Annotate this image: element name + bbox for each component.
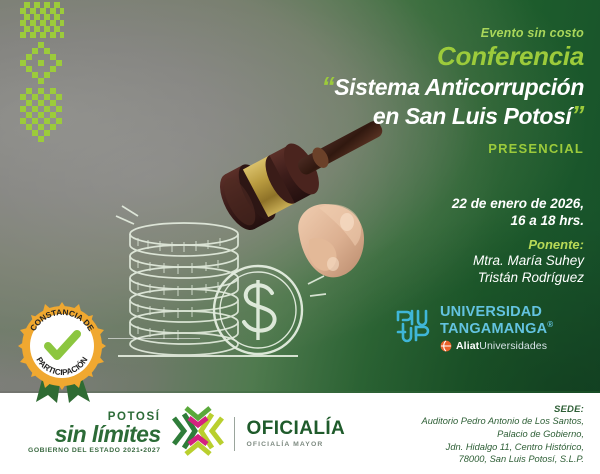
government-logo: POTOSÍ sin límites GOBIERNO DEL ESTADO 2… [28,404,345,463]
sede-line-1: Auditorio Pedro Antonio de Los Santos, [334,415,584,428]
oficialia-mayor-subtitle: OFICIALÍA MAYOR [247,441,346,448]
university-logo: UNIVERSIDAD TANGAMANGA® AliatUniversidad… [392,305,582,352]
potosi-sin-limites-wordmark: POTOSÍ sin límites GOBIERNO DEL ESTADO 2… [28,412,161,454]
event-kicker: Evento sin costo [254,26,584,40]
date-speaker-block: 22 de enero de 2026, 16 a 18 hrs. Ponent… [254,196,584,287]
event-date-line-1: 22 de enero de 2026, [254,196,584,213]
gobierno-del-estado-label: GOBIERNO DEL ESTADO 2021•2027 [28,448,161,455]
university-name-text-2: TANGAMANGA [440,320,547,336]
quote-close: ” [571,100,584,130]
embroidery-pattern-decoration [18,0,64,152]
sede-line-3: Jdn. Hidalgo 11, Centro Histórico, [334,441,584,454]
title-text-2: en San Luis Potosí [373,103,572,129]
aliat-network: AliatUniversidades [440,340,553,352]
conference-poster: Evento sin costo Conferencia “Sistema An… [0,0,600,474]
conference-word: Conferencia [254,43,584,70]
speaker-label: Ponente: [254,237,584,252]
venue-block: SEDE: Auditorio Pedro Antonio de Los San… [334,404,584,466]
aliat-suffix: Universidades [479,340,547,352]
speaker-name-line-2: Tristán Rodríguez [254,269,584,287]
oficialia-wordmark: OFICIALÍA OFICIALÍA MAYOR [247,419,346,448]
conference-title-line-1: “Sistema Anticorrupción [254,72,584,101]
logo-divider [234,417,235,451]
modality-label: PRESENCIAL [254,141,584,156]
aliat-prefix: Aliat [456,340,479,352]
constancia-participacion-badge: CONSTANCIA DE PARTICIPACIÓN [14,300,112,404]
headline-block: Evento sin costo Conferencia “Sistema An… [254,26,584,156]
registered-trademark-icon: ® [547,320,553,329]
universidad-tangamanga-mark-icon [392,306,432,351]
badge-connector-line [108,338,200,339]
sede-label: SEDE: [334,404,584,415]
title-text-1: Sistema Anticorrupción [334,74,584,100]
university-name: UNIVERSIDAD TANGAMANGA® AliatUniversidad… [440,305,553,352]
aliat-globe-icon [440,340,452,352]
sede-line-2: Palacio de Gobierno, [334,428,584,441]
potosi-star-emblem-icon [170,404,226,463]
oficialia-title: OFICIALÍA [247,419,346,439]
quote-open: “ [322,71,335,101]
speaker-name-line-1: Mtra. María Suhey [254,252,584,270]
conference-title-line-2: en San Luis Potosí” [254,101,584,130]
event-time-line: 16 a 18 hrs. [254,213,584,230]
university-name-line-1: UNIVERSIDAD [440,305,553,320]
aliat-label: AliatUniversidades [456,341,547,352]
university-name-line-2: TANGAMANGA® [440,321,553,336]
sin-limites-word: sin límites [28,423,161,446]
sede-line-4: 78000, San Luis Potosí, S.L.P. [334,453,584,466]
